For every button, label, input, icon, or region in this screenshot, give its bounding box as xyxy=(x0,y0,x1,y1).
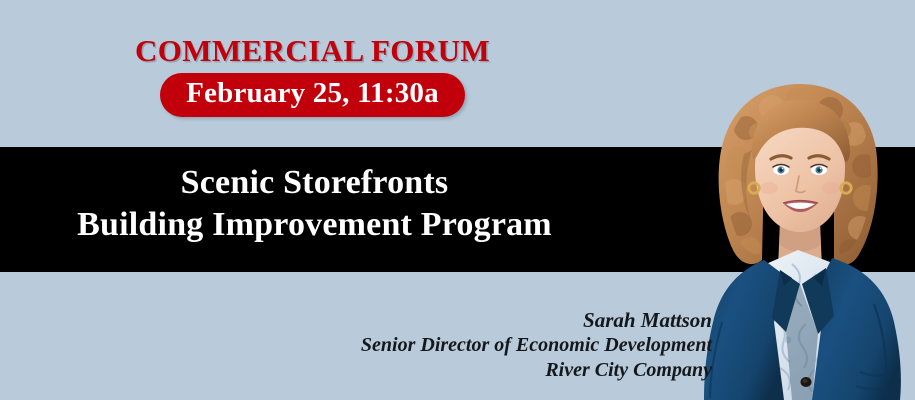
speaker-portrait-image xyxy=(688,72,915,400)
speaker-role: Senior Director of Economic Development xyxy=(361,333,712,358)
speaker-name: Sarah Mattson xyxy=(361,307,712,333)
eyebrow-heading: COMMERCIAL FORUM xyxy=(0,33,915,69)
eyebrow-heading-text: COMMERCIAL FORUM xyxy=(135,33,490,69)
speaker-organization: River City Company xyxy=(361,358,712,383)
speaker-credit: Sarah Mattson Senior Director of Economi… xyxy=(361,307,712,383)
event-date-pill: February 25, 11:30a xyxy=(160,73,465,117)
commercial-forum-event-banner: COMMERCIAL FORUM February 25, 11:30a Sce… xyxy=(0,0,915,400)
event-date-pill-container: February 25, 11:30a xyxy=(0,73,915,117)
